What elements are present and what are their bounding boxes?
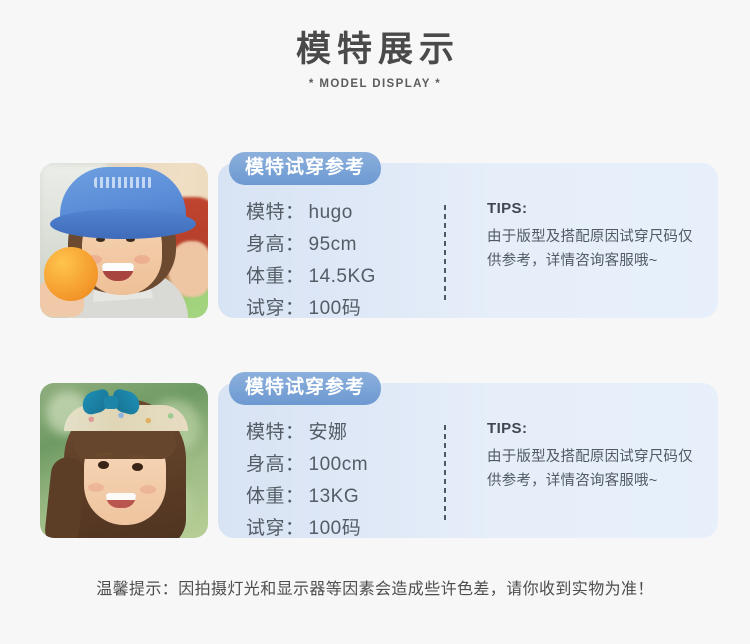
spec-row: 试穿： 100码 [246, 293, 376, 325]
spec-label: 模特： [246, 417, 305, 444]
tips-title: TIPS: [487, 420, 697, 437]
model-photo-1[interactable] [40, 163, 208, 318]
tips-title: TIPS: [487, 200, 697, 217]
spec-value: 13KG [309, 486, 360, 508]
spec-value: 安娜 [309, 417, 348, 444]
model-block-1: 模特试穿参考 模特： hugo 身高： 95cm 体重： 14.5KG 试穿： … [0, 148, 750, 318]
model-display-page: 模特展示 * MODEL DISPLAY * [0, 0, 750, 644]
page-subtitle: * MODEL DISPLAY * [0, 78, 750, 90]
page-header: 模特展示 * MODEL DISPLAY * [0, 28, 750, 90]
spec-label: 体重： [246, 261, 305, 288]
model-specs-1: 模特： hugo 身高： 95cm 体重： 14.5KG 试穿： 100码 [246, 197, 376, 325]
model-specs-2: 模特： 安娜 身高： 100cm 体重： 13KG 试穿： 100码 [246, 417, 368, 545]
tips-section-2: TIPS: 由于版型及搭配原因试穿尺码仅供参考，详情咨询客服哦~ [487, 420, 697, 493]
boy-with-orange-image [40, 163, 208, 318]
spec-label: 身高： [246, 229, 305, 256]
spec-value: 100cm [309, 454, 369, 476]
tips-body: 由于版型及搭配原因试穿尺码仅供参考，详情咨询客服哦~ [487, 445, 697, 493]
dashed-divider [444, 205, 446, 301]
spec-value: 14.5KG [309, 266, 376, 288]
spec-row: 体重： 13KG [246, 481, 368, 513]
tips-section-1: TIPS: 由于版型及搭配原因试穿尺码仅供参考，详情咨询客服哦~ [487, 200, 697, 273]
spec-label: 试穿： [246, 293, 305, 320]
spec-row: 模特： hugo [246, 197, 376, 229]
dashed-divider [444, 425, 446, 521]
spec-value: 100码 [309, 513, 362, 540]
model-badge-1: 模特试穿参考 [229, 152, 381, 185]
tips-body: 由于版型及搭配原因试穿尺码仅供参考，详情咨询客服哦~ [487, 225, 697, 273]
spec-label: 试穿： [246, 513, 305, 540]
spec-value: hugo [309, 202, 353, 224]
spec-label: 模特： [246, 197, 305, 224]
model-photo-2[interactable] [40, 383, 208, 538]
spec-label: 体重： [246, 481, 305, 508]
spec-row: 模特： 安娜 [246, 417, 368, 449]
footer-note: 温馨提示：因拍摄灯光和显示器等因素会造成些许色差，请你收到实物为准！ [0, 575, 750, 599]
spec-label: 身高： [246, 449, 305, 476]
spec-value: 100码 [309, 293, 362, 320]
page-title: 模特展示 [0, 28, 750, 72]
spec-row: 身高： 100cm [246, 449, 368, 481]
spec-row: 身高： 95cm [246, 229, 376, 261]
spec-value: 95cm [309, 234, 357, 256]
girl-with-headband-image [40, 383, 208, 538]
model-block-2: 模特试穿参考 模特： 安娜 身高： 100cm 体重： 13KG 试穿： 100… [0, 368, 750, 538]
spec-row: 体重： 14.5KG [246, 261, 376, 293]
spec-row: 试穿： 100码 [246, 513, 368, 545]
model-badge-2: 模特试穿参考 [229, 372, 381, 405]
